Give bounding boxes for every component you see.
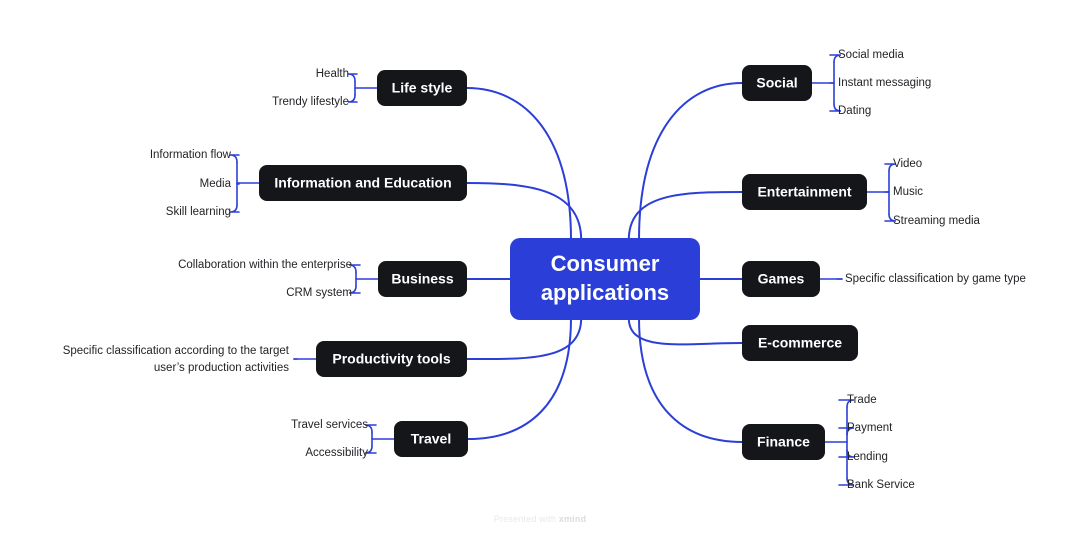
leaf-label-entertainment-1: Music (893, 186, 923, 198)
branch-node-information-and-education[interactable]: Information and Education (259, 165, 467, 201)
connector-root-to-travel (468, 318, 571, 439)
leaf-label-business-1: CRM system (286, 287, 352, 299)
leaf-label-information-and-education-1: Media (200, 178, 232, 190)
leaf-label-entertainment-2: Streaming media (893, 215, 981, 227)
leaf-label-games-0: Specific classification by game type (845, 273, 1026, 285)
leaf-label-life-style-0: Health (316, 68, 349, 80)
branch-node-label-games: Games (758, 271, 805, 287)
leaf-label-social-2: Dating (838, 105, 871, 117)
leaf-label-finance-3: Bank Service (847, 479, 915, 491)
branch-node-business[interactable]: Business (378, 261, 467, 297)
connector-root-to-e-commerce (629, 318, 742, 344)
leaf-label-finance-0: Trade (847, 394, 877, 406)
footer-prefix: Presented with (494, 514, 559, 524)
branch-node-travel[interactable]: Travel (394, 421, 468, 457)
node-layer: ConsumerapplicationsLife styleHealthTren… (63, 49, 1026, 491)
leaf-label-social-0: Social media (838, 49, 904, 61)
branch-node-entertainment[interactable]: Entertainment (742, 174, 867, 210)
branch-node-label-travel: Travel (411, 431, 451, 447)
branch-node-label-social: Social (756, 75, 797, 91)
root-node[interactable]: Consumerapplications (510, 238, 700, 320)
connector-root-to-information-and-education (467, 183, 581, 240)
branch-node-label-business: Business (391, 271, 453, 287)
branch-node-e-commerce[interactable]: E-commerce (742, 325, 858, 361)
leaf-label-finance-2: Lending (847, 451, 888, 463)
branch-node-games[interactable]: Games (742, 261, 820, 297)
leaf-label-productivity-tools-0: Specific classification according to the… (63, 345, 290, 357)
branch-node-finance[interactable]: Finance (742, 424, 825, 460)
branch-node-label-information-and-education: Information and Education (274, 175, 451, 191)
leaf-label-productivity-tools-0-line2: user’s production activities (154, 362, 289, 374)
connector-root-to-life-style (467, 88, 571, 240)
branch-node-productivity-tools[interactable]: Productivity tools (316, 341, 467, 377)
leaf-label-entertainment-0: Video (893, 158, 922, 170)
branch-node-label-life-style: Life style (392, 80, 453, 96)
branch-node-label-e-commerce: E-commerce (758, 335, 842, 351)
leaf-label-travel-0: Travel services (291, 419, 368, 431)
leaf-label-travel-1: Accessibility (305, 447, 368, 459)
root-node-label-line1: Consumer (551, 251, 660, 276)
root-node-label-line2: applications (541, 280, 669, 305)
connector-root-to-social (639, 83, 742, 240)
connector-information-and-education-leaf-2 (230, 205, 239, 212)
branch-node-label-finance: Finance (757, 434, 810, 450)
leaf-label-life-style-1: Trendy lifestyle (272, 96, 349, 108)
leaf-label-information-and-education-2: Skill learning (166, 206, 231, 218)
footer-credit: Presented with xmind (0, 514, 1080, 524)
connector-life-style-leaf-1 (348, 95, 357, 102)
branch-node-social[interactable]: Social (742, 65, 812, 101)
footer-brand: xmind (559, 514, 587, 524)
branch-node-label-productivity-tools: Productivity tools (332, 351, 450, 367)
mindmap-canvas: ConsumerapplicationsLife styleHealthTren… (0, 0, 1080, 539)
connector-life-style-leaf-0 (348, 74, 357, 81)
connector-information-and-education-leaf-0 (230, 155, 239, 162)
leaf-label-finance-1: Payment (847, 422, 893, 434)
branch-node-life-style[interactable]: Life style (377, 70, 467, 106)
connector-root-to-productivity-tools (467, 318, 581, 359)
branch-node-label-entertainment: Entertainment (757, 184, 851, 200)
connector-root-to-entertainment (629, 192, 742, 240)
leaf-label-business-0: Collaboration within the enterprise (178, 259, 352, 271)
connector-root-to-finance (639, 318, 742, 442)
leaf-label-information-and-education-0: Information flow (150, 149, 232, 161)
leaf-label-social-1: Instant messaging (838, 77, 931, 89)
